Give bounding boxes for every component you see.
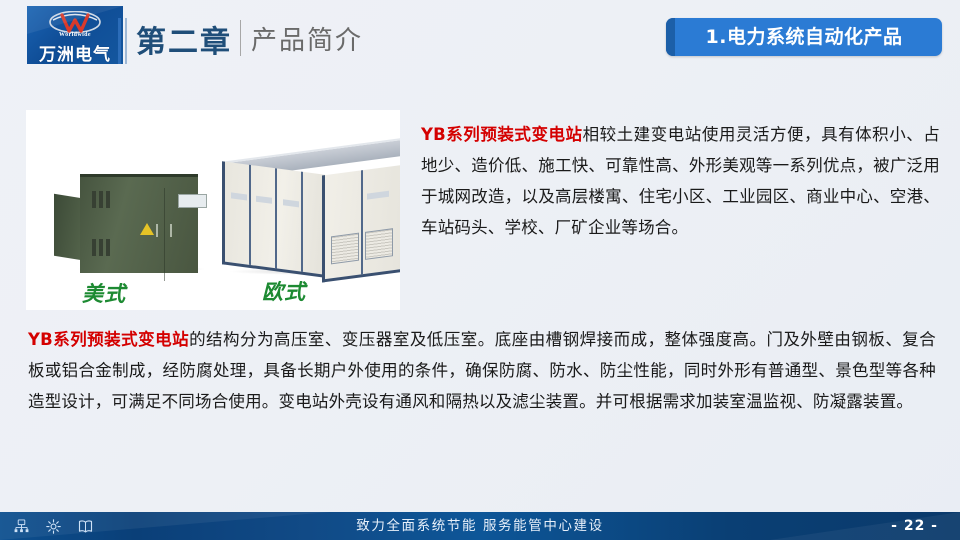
- vent-slot: [106, 239, 110, 256]
- vent-slot: [106, 191, 110, 208]
- european-style-substation-illustration: [222, 128, 400, 288]
- paragraph-product-advantages: YB系列预装式变电站相较土建变电站使用灵活方便，具有体积小、占地少、造价低、施工…: [421, 119, 940, 243]
- paragraph1-highlight: YB系列预装式变电站: [421, 125, 583, 144]
- panel-divider: [361, 170, 363, 274]
- american-style-substation-illustration: [54, 166, 214, 270]
- paragraph2-highlight: YB系列预装式变电站: [28, 330, 189, 349]
- american-unit-nameplate: [178, 194, 207, 208]
- vent-slot: [92, 191, 96, 208]
- section-banner: 1.电力系统自动化产品: [666, 18, 942, 56]
- vent-slot: [99, 239, 103, 256]
- logo-latin-name: Worldwide: [27, 32, 123, 38]
- worldwide-w-emblem-icon: [49, 11, 101, 33]
- section-banner-label: 1.电力系统自动化产品: [666, 18, 942, 56]
- product-photo: 美式 欧式: [26, 110, 400, 310]
- ventilation-grille: [331, 233, 359, 265]
- american-unit-side-panel: [54, 194, 82, 260]
- caption-european-style: 欧式: [262, 276, 306, 306]
- ventilation-grille: [365, 228, 393, 260]
- european-unit-side-wall: [222, 161, 325, 278]
- vent-slot: [92, 239, 96, 256]
- paragraph-product-structure: YB系列预装式变电站的结构分为高压室、变压器室及低压室。底座由槽钢焊接而成，整体…: [28, 324, 936, 417]
- door-split-line: [164, 188, 165, 281]
- slide-header: Worldwide 万洲电气 第二章 产品简介 1.电力系统自动化产品: [0, 0, 960, 80]
- panel-divider: [275, 168, 277, 268]
- door-handle: [170, 224, 172, 237]
- title-separator: [240, 20, 241, 56]
- chapter-label: 第二章: [136, 17, 232, 61]
- page-number: - 22 -: [891, 512, 938, 540]
- panel-divider: [249, 165, 251, 265]
- company-logo: Worldwide 万洲电气: [27, 6, 123, 64]
- page-title: 产品简介: [251, 20, 363, 57]
- vent-slot: [99, 191, 103, 208]
- door-handle: [156, 224, 158, 237]
- caption-american-style: 美式: [82, 278, 126, 308]
- logo-company-name: 万洲电气: [27, 40, 123, 64]
- panel-label: [256, 196, 272, 204]
- slide-footer: 致力全面系统节能 服务能管中心建设 - 22 -: [0, 512, 960, 540]
- footer-slogan: 致力全面系统节能 服务能管中心建设: [0, 512, 960, 540]
- panel-divider: [301, 172, 303, 272]
- high-voltage-warning-icon: [140, 223, 154, 235]
- panel-label: [367, 191, 389, 200]
- header-accent-bar: [118, 18, 121, 64]
- panel-label: [283, 199, 299, 207]
- panel-label: [231, 192, 247, 200]
- slide: Worldwide 万洲电气 第二章 产品简介 1.电力系统自动化产品: [0, 0, 960, 540]
- american-unit-body: [80, 174, 198, 273]
- european-unit-front-wall: [322, 164, 400, 282]
- header-accent-bar-secondary: [125, 18, 127, 64]
